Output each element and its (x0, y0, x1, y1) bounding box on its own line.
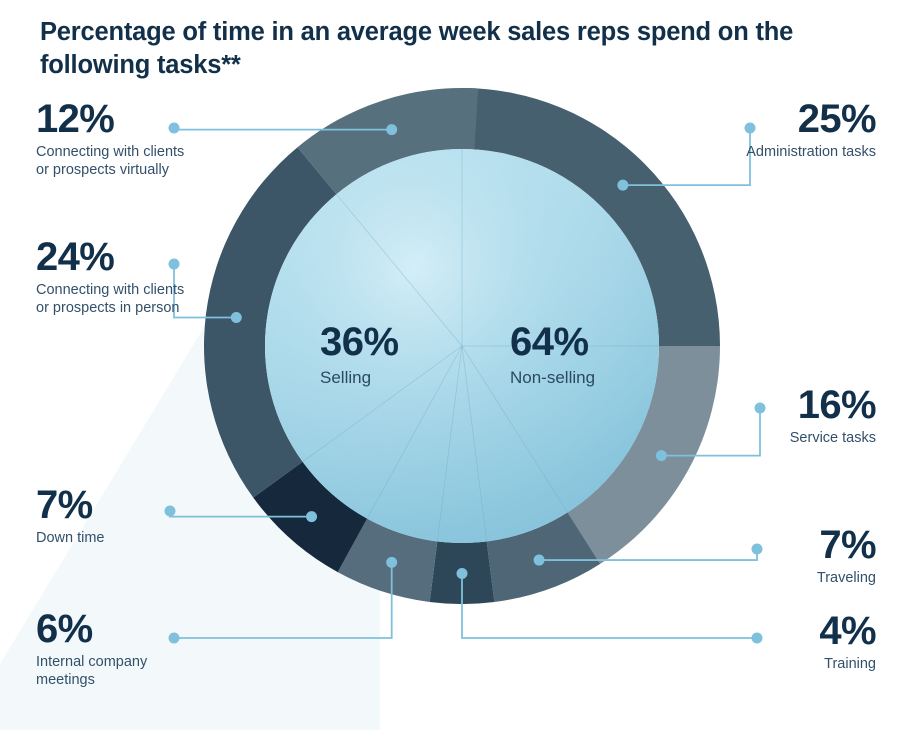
callout-service-label: Service tasks (656, 429, 876, 447)
nonselling-percent: 64% (510, 322, 595, 362)
selling-label: Selling (320, 368, 399, 388)
donut-chart-svg (204, 88, 720, 604)
callout-inperson[interactable]: 24% Connecting with clients or prospects… (36, 238, 241, 317)
callout-admin-percent: 25% (636, 100, 876, 139)
donut-segment[interactable] (430, 541, 495, 604)
callout-traveling-percent: 7% (656, 526, 876, 565)
callout-training-percent: 4% (656, 612, 876, 651)
callout-admin[interactable]: 25% Administration tasks (636, 100, 876, 161)
callout-inperson-percent: 24% (36, 238, 241, 277)
callout-training[interactable]: 4% Training (656, 612, 876, 673)
callout-service-percent: 16% (656, 386, 876, 425)
callout-downtime-label: Down time (36, 529, 216, 547)
selling-percent: 36% (320, 322, 399, 362)
callout-service[interactable]: 16% Service tasks (656, 386, 876, 447)
center-label-selling: 36% Selling (320, 322, 399, 388)
callout-virtual[interactable]: 12% Connecting with clients or prospects… (36, 100, 236, 179)
callout-downtime-percent: 7% (36, 486, 216, 525)
callout-virtual-label: Connecting with clients or prospects vir… (36, 143, 236, 179)
callout-downtime[interactable]: 7% Down time (36, 486, 216, 547)
page-title: Percentage of time in an average week sa… (40, 16, 820, 81)
infographic-canvas: Percentage of time in an average week sa… (0, 0, 910, 716)
center-label-nonselling: 64% Non-selling (510, 322, 595, 388)
callout-meetings-percent: 6% (36, 610, 226, 649)
callout-meetings[interactable]: 6% Internal company meetings (36, 610, 226, 689)
nonselling-label: Non-selling (510, 368, 595, 388)
callout-virtual-percent: 12% (36, 100, 236, 139)
callout-meetings-label: Internal company meetings (36, 653, 226, 689)
callout-admin-label: Administration tasks (636, 143, 876, 161)
donut-chart (204, 88, 720, 604)
callout-inperson-label: Connecting with clients or prospects in … (36, 281, 241, 317)
callout-training-label: Training (656, 655, 876, 673)
callout-traveling-label: Traveling (656, 569, 876, 587)
callout-traveling[interactable]: 7% Traveling (656, 526, 876, 587)
